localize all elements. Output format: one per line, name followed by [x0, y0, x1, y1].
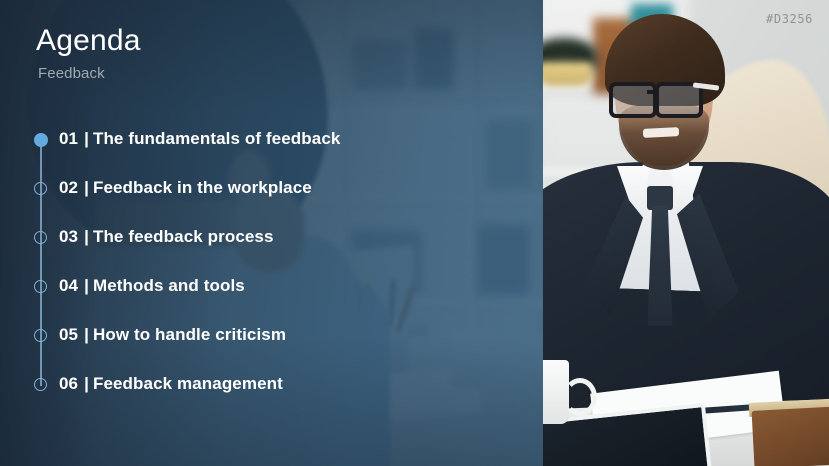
- agenda-item-number: 02: [59, 178, 78, 197]
- agenda-item-number: 06: [59, 374, 78, 393]
- agenda-item-label: 03|The feedback process: [59, 227, 274, 247]
- agenda-slide: Agenda Feedback 01|The fundamentals of f…: [0, 0, 829, 466]
- agenda-item-title: The fundamentals of feedback: [93, 129, 340, 148]
- photo-plant-pot: [543, 62, 593, 86]
- agenda-item-03[interactable]: 03|The feedback process: [34, 231, 504, 280]
- agenda-item-title: The feedback process: [93, 227, 274, 246]
- bullet-icon[interactable]: [34, 378, 47, 391]
- title-block: Agenda Feedback: [36, 24, 141, 82]
- agenda-item-number: 01: [59, 129, 78, 148]
- agenda-item-title: Feedback management: [93, 374, 283, 393]
- agenda-item-01[interactable]: 01|The fundamentals of feedback: [34, 133, 504, 182]
- bullet-icon[interactable]: [34, 231, 47, 244]
- agenda-item-separator: |: [84, 227, 89, 246]
- agenda-item-number: 05: [59, 325, 78, 344]
- agenda-item-title: How to handle criticism: [93, 325, 286, 344]
- agenda-item-separator: |: [84, 325, 89, 344]
- agenda-item-02[interactable]: 02|Feedback in the workplace: [34, 182, 504, 231]
- agenda-item-separator: |: [84, 178, 89, 197]
- agenda-item-title: Methods and tools: [93, 276, 245, 295]
- agenda-item-title: Feedback in the workplace: [93, 178, 312, 197]
- bullet-active-icon[interactable]: [34, 133, 48, 147]
- agenda-item-05[interactable]: 05|How to handle criticism: [34, 329, 504, 378]
- agenda-list: 01|The fundamentals of feedback 02|Feedb…: [34, 133, 504, 427]
- agenda-item-separator: |: [84, 276, 89, 295]
- bullet-icon[interactable]: [34, 182, 47, 195]
- photo-wood-object: [752, 405, 829, 466]
- agenda-item-label: 05|How to handle criticism: [59, 325, 286, 345]
- agenda-item-number: 03: [59, 227, 78, 246]
- agenda-item-separator: |: [84, 374, 89, 393]
- bullet-icon[interactable]: [34, 329, 47, 342]
- agenda-item-number: 04: [59, 276, 78, 295]
- slide-code: #D3256: [766, 12, 813, 26]
- page-subtitle: Feedback: [38, 65, 141, 82]
- portrait-photo: [543, 0, 829, 466]
- page-title: Agenda: [36, 24, 141, 59]
- glasses-bridge: [647, 90, 659, 94]
- photo-mug-handle: [563, 378, 597, 416]
- agenda-item-label: 06|Feedback management: [59, 374, 283, 394]
- glasses-lens-left-icon: [609, 82, 657, 118]
- agenda-item-04[interactable]: 04|Methods and tools: [34, 280, 504, 329]
- agenda-item-label: 02|Feedback in the workplace: [59, 178, 312, 198]
- agenda-item-label: 04|Methods and tools: [59, 276, 245, 296]
- photo-smile: [643, 127, 679, 138]
- bullet-icon[interactable]: [34, 280, 47, 293]
- agenda-item-06[interactable]: 06|Feedback management: [34, 378, 504, 427]
- agenda-item-separator: |: [84, 129, 89, 148]
- agenda-item-label: 01|The fundamentals of feedback: [59, 129, 340, 149]
